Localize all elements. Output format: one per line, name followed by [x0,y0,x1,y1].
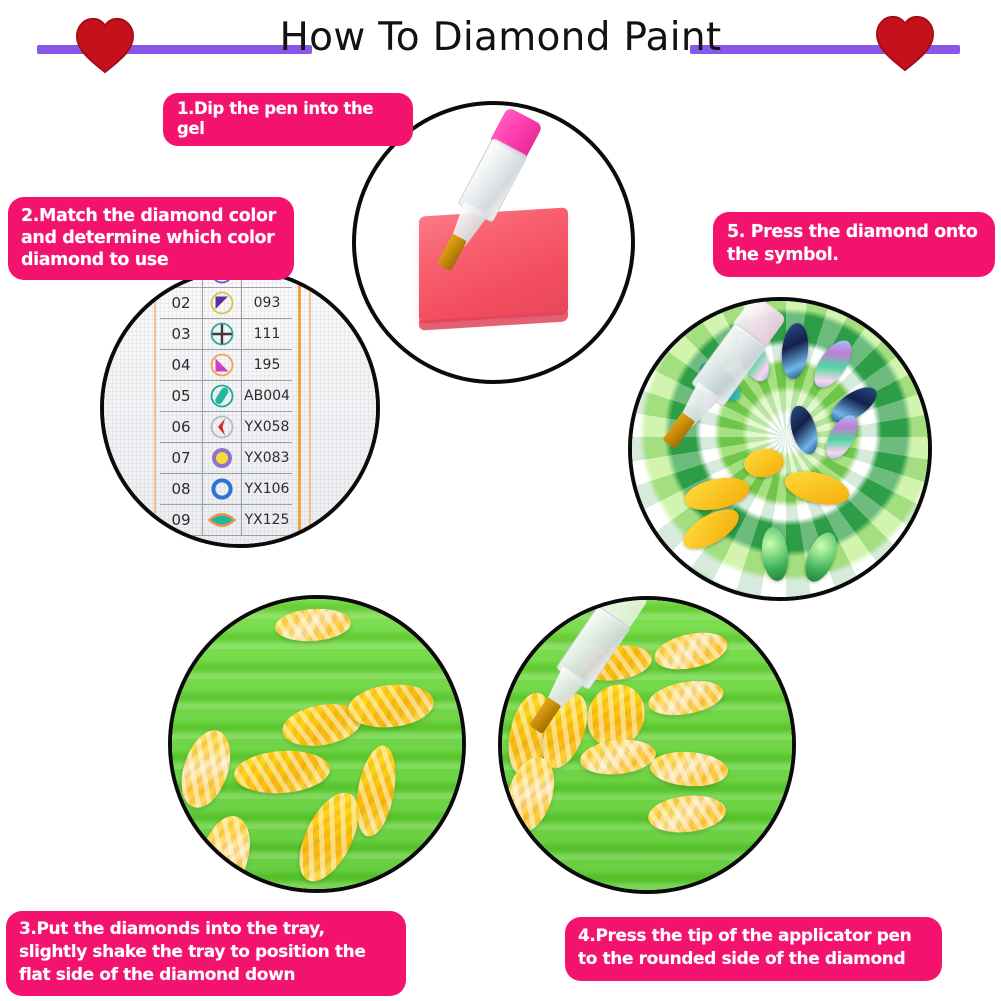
chart-cell-symbol [203,350,242,380]
chart-cell-code: 03 [160,319,203,349]
chart-cell-symbol [203,319,242,349]
step-5-photo [628,297,932,601]
chart-cell-code: 09 [160,505,203,535]
chart-cell-dmc: AB004 [242,381,292,411]
chart-orange-rule-2 [309,272,311,544]
pen-tip [529,697,561,734]
chart-cell-dmc: 093 [242,288,292,318]
step-2-photo: 0102002093031110419505AB00406YX05807YX08… [100,268,380,548]
chart-row: 05AB004 [160,381,292,412]
chart-row: 04195 [160,350,292,381]
chart-cell-symbol [203,474,242,504]
step-4-label: 4.Press the tip of the applicator pen to… [565,917,942,981]
chart-cell-dmc: YX125 [242,505,292,535]
chart-cell-symbol [203,443,242,473]
chart-row: 02093 [160,288,292,319]
infographic-canvas: How To Diamond Paint 1.Dip the pen into … [0,0,1001,1001]
chart-row: 06YX058 [160,412,292,443]
chart-cell-code: 05 [160,381,203,411]
page-header: How To Diamond Paint [0,0,1001,80]
chart-cell-dmc: YX106 [242,474,292,504]
chart-row: 09YX125 [160,505,292,536]
chart-left-rule [154,272,156,544]
pen-tip [437,234,467,272]
chart-cell-dmc: 111 [242,319,292,349]
step-4-photo [498,596,796,894]
chart-cell-symbol [203,505,242,535]
chart-cell-code: 08 [160,474,203,504]
step-3-label: 3.Put the diamonds into the tray, slight… [6,911,406,996]
chart-cell-code: 07 [160,443,203,473]
chart-cell-dmc: YX083 [242,443,292,473]
chart-cell-code: 06 [160,412,203,442]
step-3-photo [168,595,466,893]
color-symbol-chart: 0102002093031110419505AB00406YX05807YX08… [160,268,292,536]
chart-cell-symbol [203,288,242,318]
chart-cell-code: 04 [160,350,203,380]
pen-tip [662,412,695,449]
chart-row: 08YX106 [160,474,292,505]
chart-row: 03111 [160,319,292,350]
chart-cell-dmc: YX058 [242,412,292,442]
chart-cell-symbol [203,381,242,411]
chart-cell-symbol [203,412,242,442]
step-5-label: 5. Press the diamond onto the symbol. [713,212,995,277]
chart-cell-code: 02 [160,288,203,318]
chart-row: 07YX083 [160,443,292,474]
step-1-label: 1.Dip the pen into the gel [163,93,413,146]
step-2-label: 2.Match the diamond color and determine … [8,197,294,280]
chart-orange-rule [298,272,301,544]
page-title: How To Diamond Paint [0,16,1001,60]
chart-cell-dmc: 195 [242,350,292,380]
